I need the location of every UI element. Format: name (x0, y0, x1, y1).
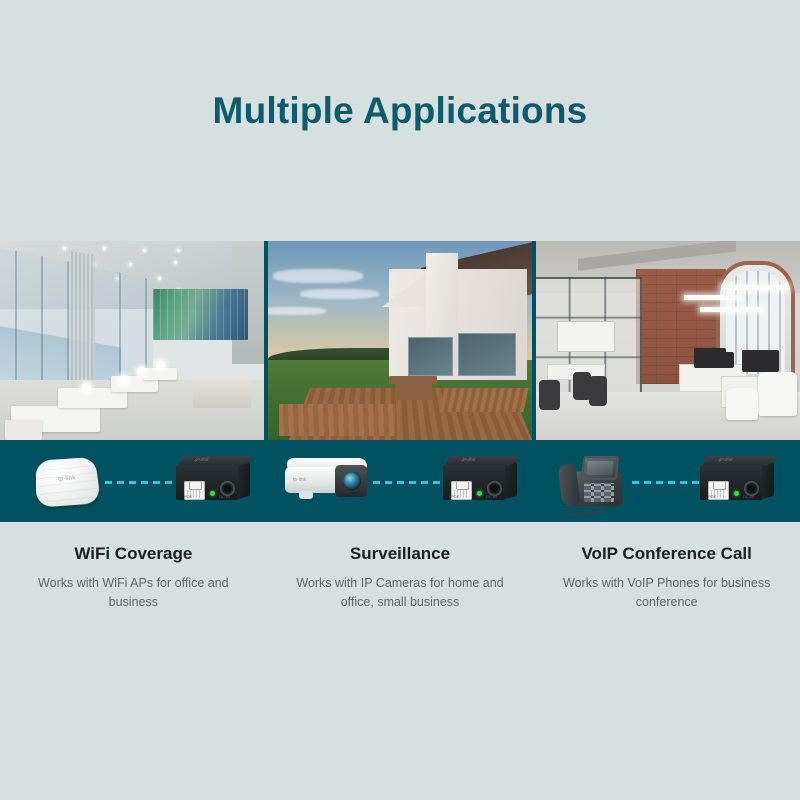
dashed-ethernet-link (373, 481, 447, 484)
page-title: Multiple Applications (0, 90, 800, 132)
poe-front-face: POE DC IN (700, 465, 762, 500)
poe-brand-label: tp-link (460, 457, 478, 463)
caption-wifi-coverage: WiFi Coverage Works with WiFi APs for of… (0, 544, 267, 611)
pendant-light (700, 307, 763, 312)
pendant-light (684, 295, 742, 300)
voip-desk-phone-icon (554, 450, 628, 512)
caption-title: WiFi Coverage (26, 544, 241, 564)
pendant-light (721, 285, 790, 290)
outdoor-bench (395, 384, 432, 400)
poe-power-label: DC IN (486, 494, 497, 499)
diagram-surveillance: tp-link tp-link POE DC IN (267, 440, 533, 522)
dashed-ethernet-link (105, 481, 180, 484)
wall-mural-artwork (153, 289, 248, 341)
photo-hotel-lobby-interior (0, 241, 264, 440)
lounge-sofa (143, 368, 177, 380)
phone-keypad-icon (584, 483, 614, 502)
camera-brand-label: tp-link (293, 477, 306, 483)
status-led-icon (210, 491, 215, 496)
photo-modern-house-deck (268, 241, 532, 440)
whiteboard (557, 321, 615, 353)
desk-monitor (742, 350, 779, 372)
multiple-applications-page: Multiple Applications (0, 0, 800, 800)
poe-port-label: POE (451, 494, 459, 499)
desk-monitor (716, 352, 734, 368)
caption-title: VoIP Conference Call (559, 544, 774, 564)
caption-description: Works with WiFi APs for office and busin… (26, 574, 241, 610)
outdoor-table (389, 376, 437, 384)
sun-lounger (440, 388, 530, 412)
poe-port-label: POE (184, 494, 192, 499)
caption-voip-conference-call: VoIP Conference Call Works with VoIP Pho… (533, 544, 800, 611)
status-led-icon (477, 491, 482, 496)
house-gable (382, 273, 426, 307)
diagram-voip-conference-call: tp-link POE DC IN (534, 440, 800, 522)
caption-surveillance: Surveillance Works with IP Cameras for h… (267, 544, 534, 611)
caption-description: Works with VoIP Phones for business conf… (559, 574, 774, 610)
house-window (408, 337, 453, 377)
poe-brand-label: tp-link (193, 457, 211, 463)
camera-mount-bracket (299, 491, 313, 499)
poe-injector-icon: tp-link POE DC IN (443, 456, 517, 500)
meeting-chair (539, 380, 560, 410)
deck-step (279, 404, 395, 436)
meeting-chair (589, 376, 607, 406)
poe-power-label: DC IN (743, 494, 754, 499)
diagram-wifi-coverage: tp-link tp-link POE DC IN (0, 440, 266, 522)
poe-brand-label: tp-link (717, 457, 735, 463)
caption-title: Surveillance (293, 544, 508, 564)
photo-industrial-office (536, 241, 800, 440)
poe-front-face: POE DC IN (176, 465, 238, 500)
device-diagram-band: tp-link tp-link POE DC IN (0, 440, 800, 522)
ceiling-light (103, 247, 106, 250)
cloud (273, 269, 363, 283)
camera-lens-icon (343, 472, 361, 490)
house-window (458, 333, 516, 377)
reception-counter (193, 376, 251, 408)
application-photo-strip (0, 241, 800, 440)
poe-front-face: POE DC IN (443, 465, 505, 500)
cloud (300, 289, 379, 299)
office-chair (726, 388, 758, 420)
phone-cord (562, 502, 608, 514)
wifi-access-point-icon: tp-link (36, 457, 101, 508)
poe-port-label: POE (708, 494, 716, 499)
status-led-icon (734, 491, 739, 496)
dashed-ethernet-link (632, 481, 704, 484)
lounge-chair (5, 420, 42, 440)
cloud (268, 307, 326, 315)
application-captions: WiFi Coverage Works with WiFi APs for of… (0, 544, 800, 611)
bullet-ip-camera-icon: tp-link (285, 458, 369, 500)
poe-power-label: DC IN (219, 494, 230, 499)
ceiling-light (177, 249, 180, 252)
caption-description: Works with IP Cameras for home and offic… (293, 574, 508, 610)
ceiling-light (143, 249, 146, 252)
phone-handset (558, 463, 581, 507)
poe-injector-icon: tp-link POE DC IN (700, 456, 774, 500)
phone-screen (581, 456, 620, 480)
poe-injector-icon: tp-link POE DC IN (176, 456, 250, 500)
office-chair (758, 372, 798, 416)
ap-brand-label: tp-link (58, 476, 76, 483)
